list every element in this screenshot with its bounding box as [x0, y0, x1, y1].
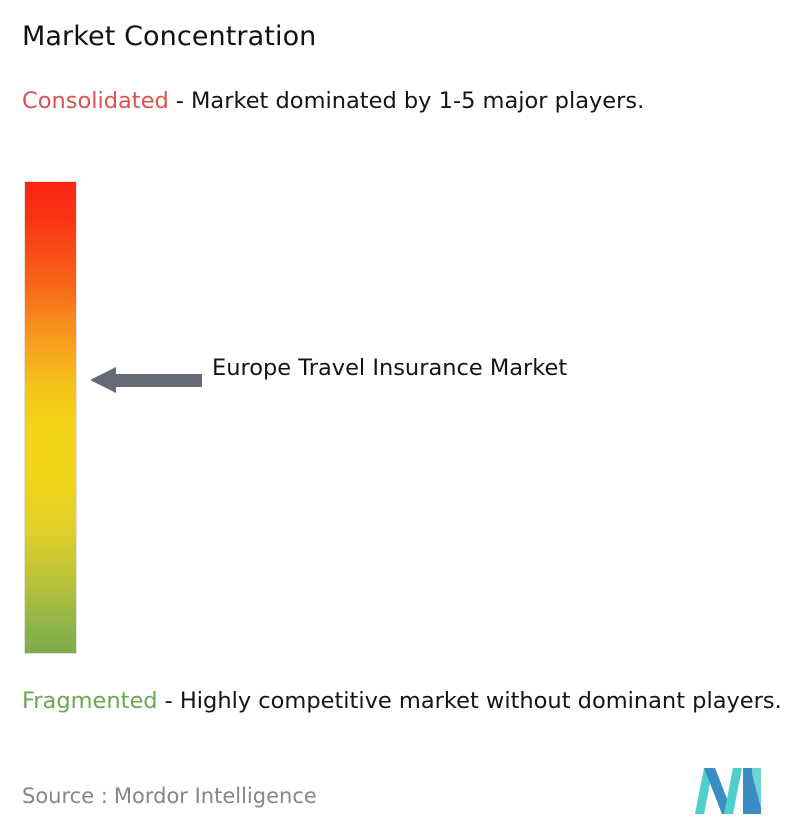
source-value: Mordor Intelligence	[114, 784, 317, 808]
mi-logo-icon	[695, 768, 761, 816]
legend-consolidated: Consolidated- Market dominated by 1-5 ma…	[22, 85, 778, 117]
source-label: Source :	[22, 784, 108, 808]
page-title: Market Concentration	[22, 20, 316, 54]
market-pointer	[90, 366, 202, 394]
legend-consolidated-description: - Market dominated by 1-5 major players.	[176, 88, 645, 114]
source-attribution: Source :Mordor Intelligence	[22, 782, 317, 810]
legend-fragmented-description: - Highly competitive market without domi…	[165, 688, 782, 714]
legend-fragmented: Fragmented- Highly competitive market wi…	[22, 685, 792, 717]
legend-fragmented-keyword: Fragmented	[22, 688, 158, 714]
mordor-intelligence-logo	[695, 768, 761, 816]
concentration-gradient-bar	[25, 182, 76, 653]
market-pointer-label: Europe Travel Insurance Market	[212, 350, 632, 386]
market-concentration-infographic: Market Concentration Consolidated- Marke…	[0, 0, 796, 834]
left-arrow-icon	[90, 366, 202, 394]
legend-consolidated-keyword: Consolidated	[22, 88, 169, 114]
